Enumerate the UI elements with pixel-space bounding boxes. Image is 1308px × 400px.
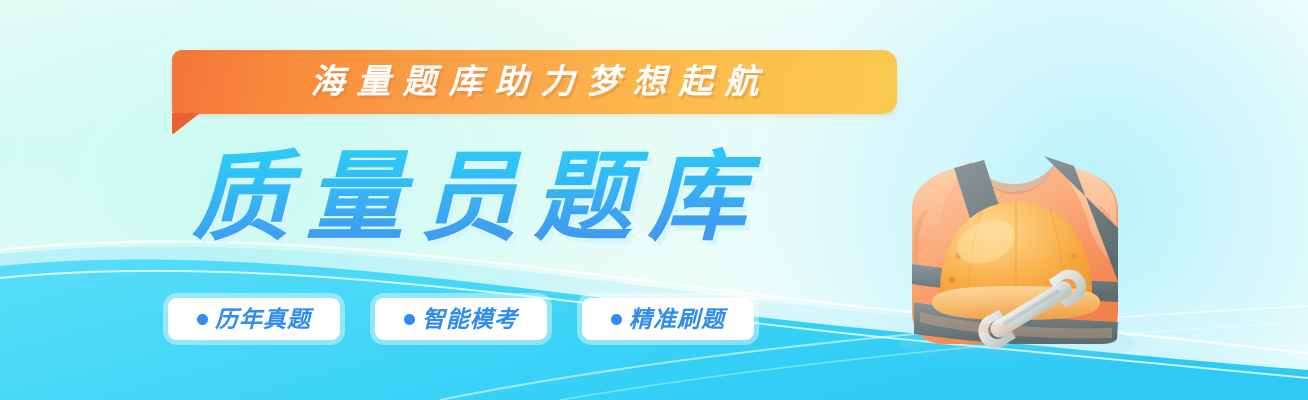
page-title: 质量员题库: [176, 146, 762, 250]
feature-pill-smart-mock[interactable]: 智能模考: [375, 298, 547, 340]
safety-vest-helmet-wrench-illustration: [868, 96, 1158, 364]
feature-pill-label: 智能模考: [422, 308, 518, 331]
ribbon-tail-icon: [172, 113, 200, 135]
ribbon-banner: 海量题库助力梦想起航: [172, 50, 897, 114]
ribbon-text: 海量题库助力梦想起航: [299, 65, 771, 99]
promo-banner: 海量题库助力梦想起航 质量员题库 历年真题 智能模考 精准刷题: [0, 0, 1308, 400]
bullet-dot-icon: [197, 314, 208, 325]
feature-pill-label: 历年真题: [215, 308, 311, 331]
bullet-dot-icon: [404, 314, 415, 325]
feature-pill-past-exams[interactable]: 历年真题: [168, 298, 340, 340]
feature-pill-precise-practice[interactable]: 精准刷题: [582, 298, 754, 340]
bullet-dot-icon: [611, 314, 622, 325]
feature-pill-label: 精准刷题: [629, 308, 725, 331]
feature-pill-list: 历年真题 智能模考 精准刷题: [168, 298, 754, 340]
